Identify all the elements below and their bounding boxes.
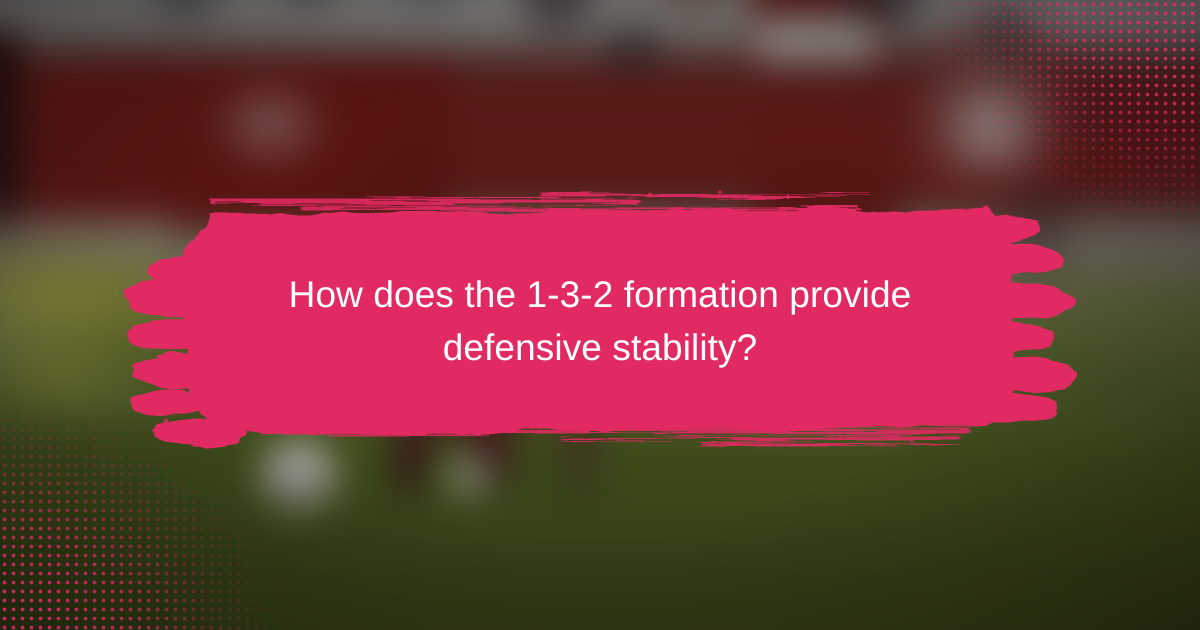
- brush-stroke-shape: [140, 185, 1060, 450]
- brush-stroke-banner: [140, 185, 1060, 450]
- question-card: How does the 1-3-2 formation provide def…: [0, 0, 1200, 630]
